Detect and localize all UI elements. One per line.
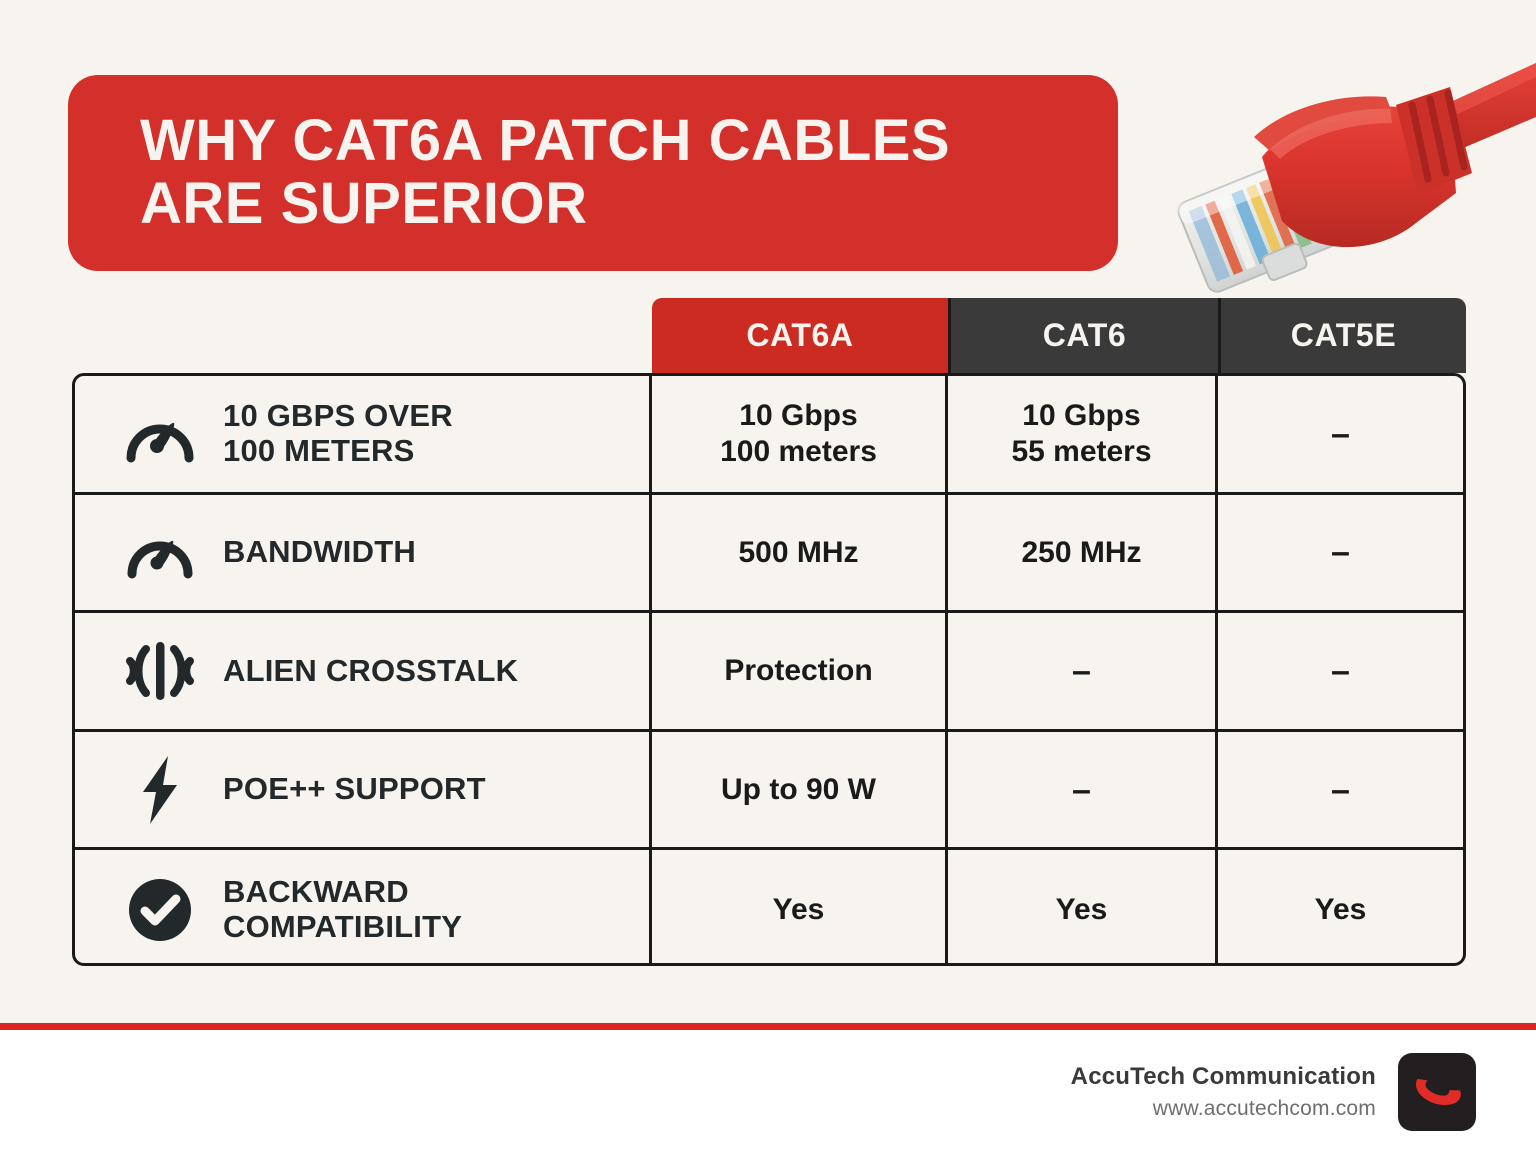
feature-label: POE++ SUPPORT [223, 772, 486, 807]
feature-label: BACKWARD COMPATIBILITY [223, 875, 462, 944]
column-header-cat6: CAT6 [948, 298, 1218, 373]
table-row: ALIEN CROSSTALK Protection – – [75, 613, 1463, 732]
feature-label-cell: 10 GBPS OVER 100 METERS [75, 376, 652, 492]
signal-crosstalk-icon [117, 638, 203, 704]
rj45-patch-cable-icon [1150, 45, 1536, 295]
cell-cat5e: Yes [1218, 850, 1463, 966]
table-row: BANDWIDTH 500 MHz 250 MHz – [75, 495, 1463, 614]
speedometer-icon [117, 404, 203, 464]
column-header-cat6a: CAT6A [652, 298, 948, 373]
column-header-cat5e: CAT5E [1218, 298, 1466, 373]
feature-label-cell: BANDWIDTH [75, 495, 652, 611]
cell-cat6a: 10 Gbps 100 meters [652, 376, 948, 492]
footer: AccuTech Communication www.accutechcom.c… [0, 1030, 1536, 1154]
table-row: BACKWARD COMPATIBILITY Yes Yes Yes [75, 850, 1463, 966]
infographic-root: WHY CAT6A PATCH CABLES ARE SUPERIOR [0, 0, 1536, 1154]
cell-cat6a: Up to 90 W [652, 732, 948, 848]
brand-name: AccuTech Communication [1071, 1063, 1376, 1091]
cell-cat6a: 500 MHz [652, 495, 948, 611]
feature-label: 10 GBPS OVER 100 METERS [223, 399, 453, 468]
cell-cat5e: – [1218, 732, 1463, 848]
cell-cat6: 250 MHz [948, 495, 1218, 611]
table-row: POE++ SUPPORT Up to 90 W – – [75, 732, 1463, 851]
footer-text-block: AccuTech Communication www.accutechcom.c… [1071, 1063, 1376, 1121]
footer-divider [0, 1023, 1536, 1030]
title-banner: WHY CAT6A PATCH CABLES ARE SUPERIOR [68, 75, 1118, 271]
feature-label: ALIEN CROSSTALK [223, 654, 518, 689]
cell-cat6: – [948, 613, 1218, 729]
cell-cat6a: Yes [652, 850, 948, 966]
table-header-row: CAT6A CAT6 CAT5E [652, 298, 1466, 373]
feature-label-cell: BACKWARD COMPATIBILITY [75, 850, 652, 966]
feature-label-cell: POE++ SUPPORT [75, 732, 652, 848]
cell-cat5e: – [1218, 613, 1463, 729]
cell-cat5e: – [1218, 376, 1463, 492]
cell-cat6: – [948, 732, 1218, 848]
cell-cat5e: – [1218, 495, 1463, 611]
feature-label: BANDWIDTH [223, 535, 416, 570]
cell-cat6: 10 Gbps 55 meters [948, 376, 1218, 492]
cell-cat6: Yes [948, 850, 1218, 966]
company-logo [1398, 1053, 1476, 1131]
page-title: WHY CAT6A PATCH CABLES ARE SUPERIOR [68, 110, 974, 235]
table-body: 10 GBPS OVER 100 METERS 10 Gbps 100 mete… [72, 373, 1466, 966]
gauge-icon [117, 524, 203, 580]
check-circle-icon [117, 876, 203, 944]
table-row: 10 GBPS OVER 100 METERS 10 Gbps 100 mete… [75, 376, 1463, 495]
lightning-bolt-icon [117, 754, 203, 826]
phone-handset-icon [1412, 1065, 1462, 1120]
website-url[interactable]: www.accutechcom.com [1071, 1097, 1376, 1121]
cell-cat6a: Protection [652, 613, 948, 729]
feature-label-cell: ALIEN CROSSTALK [75, 613, 652, 729]
comparison-table: CAT6A CAT6 CAT5E 10 GBPS OVER 100 METERS [72, 298, 1466, 966]
